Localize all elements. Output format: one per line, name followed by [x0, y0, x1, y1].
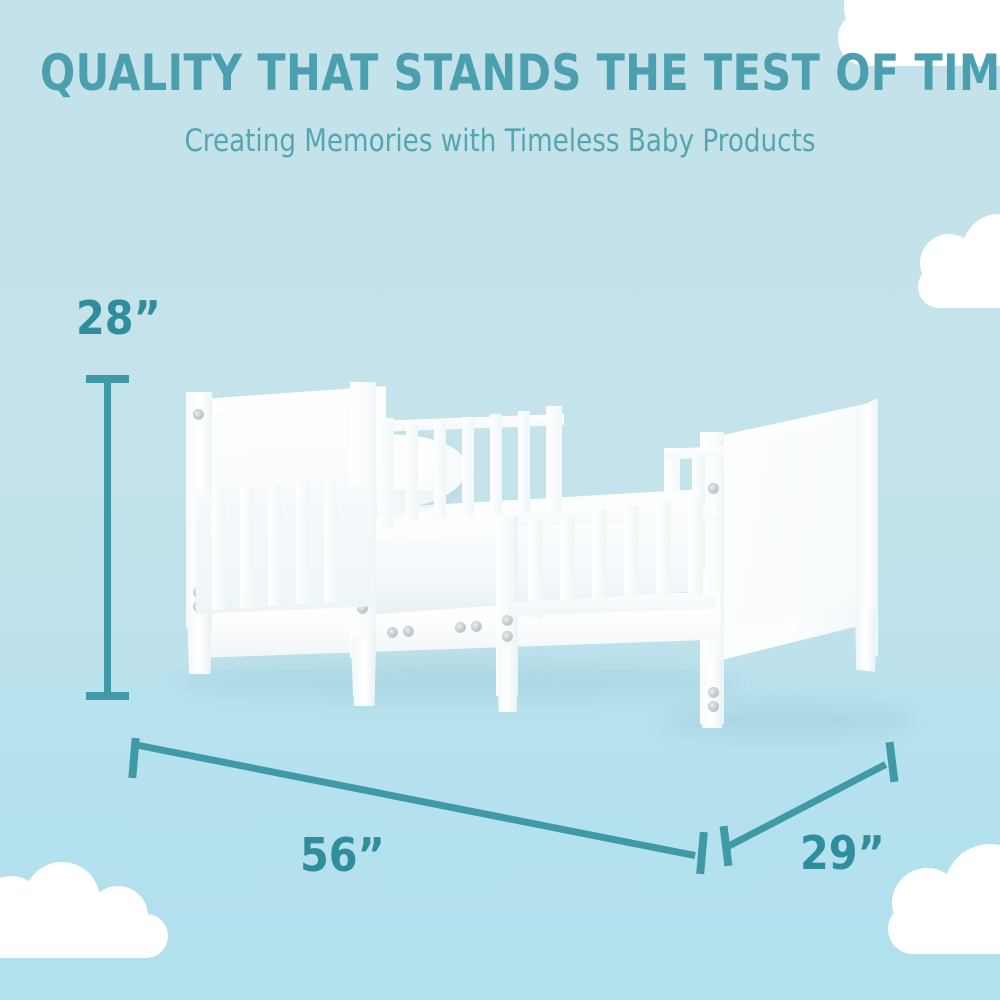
screw-cap [456, 623, 465, 632]
dimension-label-depth: 29” [800, 830, 885, 876]
front-guardrail-leg [497, 646, 518, 712]
headboard-slat [240, 486, 253, 608]
infographic-canvas: QUALITY THAT STANDS THE TEST OF TIME Cre… [0, 0, 1000, 1000]
center-support-leg [352, 636, 376, 706]
footboard-rear-leg [855, 610, 876, 672]
screw-cap [709, 688, 718, 697]
screw-cap [388, 628, 397, 637]
screw-cap [472, 622, 481, 631]
back-guardrail-post [378, 418, 394, 528]
screw-cap [709, 702, 718, 711]
screw-cap [404, 627, 413, 636]
front-guardrail-slat [592, 510, 607, 610]
back-guardrail-slat [406, 424, 418, 520]
headboard-slat [212, 488, 225, 610]
footboard-inner-panel [722, 420, 860, 632]
headboard-slat [296, 482, 309, 604]
back-guardrail-slat [434, 420, 446, 518]
front-guardrail-slat [560, 515, 575, 614]
dimension-line-length-wrap [128, 735, 708, 865]
screw-cap [194, 410, 203, 419]
front-guardrail-slat [656, 501, 671, 603]
dimension-line-height [104, 378, 111, 698]
headboard-slat [324, 480, 337, 602]
dimension-cap-height-bottom [86, 692, 129, 700]
back-guardrail-end-post [546, 406, 562, 512]
floor-shadow [178, 660, 738, 702]
dimension-label-height: 28” [76, 295, 161, 341]
screw-cap [709, 484, 718, 493]
screw-cap [503, 616, 512, 625]
headboard-slat [268, 484, 281, 606]
back-guardrail-slat [518, 411, 530, 512]
headboard-left-leg [187, 612, 212, 674]
screw-cap [503, 632, 512, 641]
back-guardrail-slat [462, 417, 474, 516]
dimension-cap-height-top [86, 375, 129, 383]
front-guardrail-slat [688, 497, 703, 600]
floor-shadow [660, 700, 910, 740]
front-guardrail-slat [624, 506, 639, 607]
dimension-label-length: 56” [300, 832, 385, 878]
back-guardrail-slat [490, 414, 502, 514]
dimension-line-length [133, 741, 695, 859]
